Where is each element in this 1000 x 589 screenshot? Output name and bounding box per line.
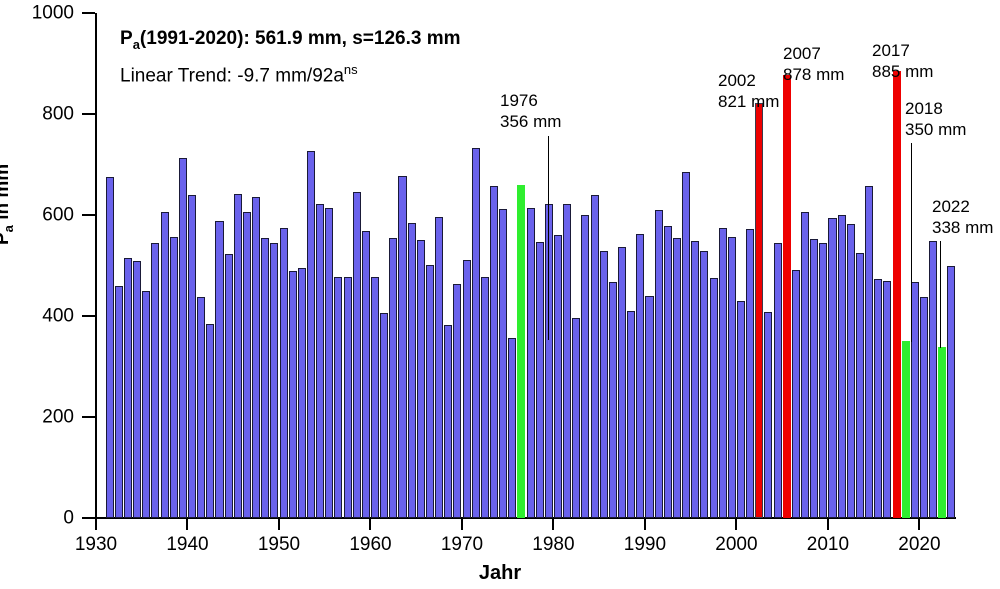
bar-1996 <box>700 251 708 518</box>
y-tick-label: 600 <box>42 206 74 225</box>
bar-2015 <box>874 279 882 518</box>
bar-1958 <box>353 192 361 518</box>
callout-2022-value: 338 mm <box>932 217 993 238</box>
y-axis-title-rest: in mm <box>0 164 13 225</box>
callout-1976: 1976 356 mm <box>500 90 561 132</box>
x-tick-label: 1940 <box>166 535 208 554</box>
bar-1965 <box>417 240 425 518</box>
plot-area <box>96 13 956 518</box>
bar-1932 <box>115 286 123 518</box>
bar-2008 <box>810 239 818 518</box>
bar-1987 <box>618 247 626 518</box>
x-tick-label: 1980 <box>532 535 574 554</box>
bar-2004 <box>774 243 782 518</box>
bar-1953 <box>307 151 315 518</box>
bar-1931 <box>106 177 114 518</box>
x-tick-mark <box>644 519 646 530</box>
bar-1935 <box>142 291 150 518</box>
bar-1967 <box>435 217 443 518</box>
bar-1956 <box>334 277 342 518</box>
bar-1971 <box>472 148 480 518</box>
bar-2019 <box>911 282 919 518</box>
bar-1946 <box>243 212 251 518</box>
bar-1988 <box>627 311 635 518</box>
bar-1969 <box>453 284 461 518</box>
bar-1991 <box>655 210 663 518</box>
stat-trend-text: Linear Trend: -9.7 mm/92ans <box>120 62 358 87</box>
bar-1957 <box>344 277 352 518</box>
bar-2010 <box>828 218 836 518</box>
bar-1972 <box>481 277 489 518</box>
callout-1976-value: 356 mm <box>500 111 561 132</box>
y-tick-mark <box>82 113 95 115</box>
x-tick-mark <box>918 519 920 530</box>
bar-1990 <box>645 296 653 518</box>
x-tick-label: 2020 <box>898 535 940 554</box>
bar-2002 <box>755 103 763 518</box>
bar-1949 <box>270 243 278 518</box>
bar-1937 <box>161 212 169 518</box>
y-tick-label: 1000 <box>32 4 74 23</box>
bar-2016 <box>883 281 891 518</box>
bar-1995 <box>691 241 699 518</box>
bar-2013 <box>856 253 864 518</box>
bar-1973 <box>490 186 498 518</box>
callout-2017-year: 2017 <box>872 40 933 61</box>
bar-2017 <box>893 71 901 518</box>
x-tick-mark <box>827 519 829 530</box>
x-tick-mark <box>369 519 371 530</box>
bar-1962 <box>389 238 397 518</box>
bar-2009 <box>819 243 827 518</box>
bar-2001 <box>746 229 754 518</box>
x-tick-label: 1970 <box>441 535 483 554</box>
bar-1964 <box>408 223 416 518</box>
bar-1974 <box>499 209 507 518</box>
bar-1982 <box>572 318 580 518</box>
callout-2022-year: 2022 <box>932 196 993 217</box>
y-tick-label: 0 <box>63 509 74 528</box>
x-tick-mark <box>735 519 737 530</box>
callout-2017: 2017 885 mm <box>872 40 933 82</box>
x-tick-label: 1950 <box>258 535 300 554</box>
bar-1983 <box>581 215 589 519</box>
x-tick-label: 1990 <box>624 535 666 554</box>
bar-1945 <box>234 194 242 518</box>
callout-2018: 2018 350 mm <box>905 98 966 140</box>
x-tick-mark <box>186 519 188 530</box>
x-tick-mark <box>278 519 280 530</box>
bar-1950 <box>280 228 288 518</box>
callout-2022: 2022 338 mm <box>932 196 993 238</box>
y-tick-mark <box>82 12 95 14</box>
callout-2018-year: 2018 <box>905 98 966 119</box>
bar-1961 <box>380 313 388 518</box>
y-axis-title: Pa in mm <box>0 164 16 245</box>
callout-2002: 2002 821 mm <box>718 70 779 112</box>
bar-2011 <box>838 215 846 518</box>
y-axis-title-sub: a <box>1 225 16 232</box>
bar-1941 <box>197 297 205 518</box>
x-tick-label: 1960 <box>349 535 391 554</box>
bar-1994 <box>682 172 690 518</box>
callout-2018-leader <box>911 143 912 342</box>
x-tick-label: 2010 <box>807 535 849 554</box>
callout-2002-value: 821 mm <box>718 91 779 112</box>
bar-1998 <box>719 228 727 518</box>
y-axis-title-base: P <box>0 232 13 245</box>
bar-1985 <box>600 251 608 518</box>
bar-1960 <box>371 277 379 518</box>
bar-2021 <box>929 241 937 518</box>
stat-trend-label: Linear Trend: -9.7 mm/92a <box>120 65 344 86</box>
bar-1952 <box>298 268 306 518</box>
x-tick-mark <box>95 519 97 530</box>
bar-2012 <box>847 224 855 518</box>
bar-1942 <box>206 324 214 518</box>
bar-2023 <box>947 266 955 519</box>
bar-1986 <box>609 282 617 518</box>
x-tick-label: 1930 <box>75 535 117 554</box>
bar-2005 <box>783 75 791 518</box>
bar-2007 <box>801 212 809 518</box>
bar-1936 <box>151 243 159 518</box>
stat-normal-prefix: P <box>120 28 133 49</box>
bar-2018 <box>902 341 910 518</box>
bar-1976 <box>517 185 525 518</box>
x-tick-label: 2000 <box>715 535 757 554</box>
bar-2022 <box>938 347 946 518</box>
bar-2000 <box>737 301 745 518</box>
bar-1989 <box>636 234 644 518</box>
bar-1951 <box>289 271 297 518</box>
bar-1968 <box>444 325 452 518</box>
callout-1976-leader <box>548 136 549 340</box>
callout-2007-year: 2007 <box>783 43 844 64</box>
y-tick-label: 800 <box>42 105 74 124</box>
bar-1992 <box>664 226 672 518</box>
y-tick-mark <box>82 416 95 418</box>
callout-2007-value: 878 mm <box>783 64 844 85</box>
bar-1997 <box>710 278 718 518</box>
bar-1999 <box>728 237 736 518</box>
bar-1978 <box>536 242 544 518</box>
y-tick-label: 200 <box>42 408 74 427</box>
y-tick-mark <box>82 315 95 317</box>
bar-2014 <box>865 186 873 518</box>
bar-1940 <box>188 195 196 518</box>
chart-root: Pa in mm 02004006008001000 1930194019501… <box>0 0 1000 589</box>
callout-2018-value: 350 mm <box>905 119 966 140</box>
bar-1944 <box>225 254 233 518</box>
stat-trend-superscript: ns <box>344 62 358 77</box>
callout-2007: 2007 878 mm <box>783 43 844 85</box>
bar-1975 <box>508 338 516 518</box>
bar-1984 <box>591 195 599 518</box>
bar-1943 <box>215 221 223 518</box>
bar-1939 <box>179 158 187 518</box>
bar-2006 <box>792 270 800 518</box>
stat-normal-rest: (1991-2020): 561.9 mm, s=126.3 mm <box>140 28 461 49</box>
bar-2020 <box>920 297 928 518</box>
x-axis-title: Jahr <box>0 562 1000 585</box>
stat-normal-sub: a <box>133 37 140 52</box>
callout-1976-year: 1976 <box>500 90 561 111</box>
bar-1959 <box>362 231 370 518</box>
x-tick-mark <box>552 519 554 530</box>
bar-1980 <box>554 235 562 518</box>
bar-1970 <box>463 260 471 518</box>
bar-1948 <box>261 238 269 518</box>
bar-1934 <box>133 261 141 518</box>
y-tick-label: 400 <box>42 307 74 326</box>
bar-1977 <box>527 208 535 518</box>
x-tick-mark <box>461 519 463 530</box>
callout-2017-value: 885 mm <box>872 61 933 82</box>
bar-1981 <box>563 204 571 518</box>
bar-2003 <box>764 312 772 518</box>
bar-1966 <box>426 265 434 519</box>
bar-1947 <box>252 197 260 518</box>
bar-1993 <box>673 238 681 518</box>
y-tick-mark <box>82 517 95 519</box>
bar-1955 <box>325 208 333 518</box>
callout-2002-year: 2002 <box>718 70 779 91</box>
stat-normal-text: Pa(1991-2020): 561.9 mm, s=126.3 mm <box>120 28 461 52</box>
bar-1938 <box>170 237 178 518</box>
bar-1963 <box>398 176 406 518</box>
bar-1954 <box>316 204 324 518</box>
bar-series <box>96 13 956 518</box>
callout-2022-leader <box>940 241 941 348</box>
y-tick-mark <box>82 214 95 216</box>
bar-1933 <box>124 258 132 518</box>
